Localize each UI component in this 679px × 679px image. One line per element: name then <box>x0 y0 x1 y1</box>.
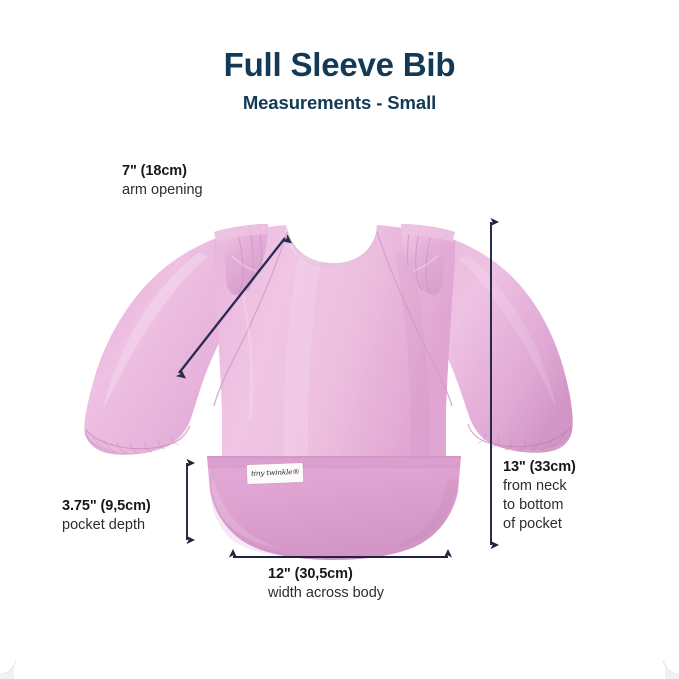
label-arm-opening-value: 7" (18cm) <box>122 162 203 181</box>
label-neck-to-pocket-line3: of pocket <box>503 515 576 534</box>
label-neck-to-pocket-line2: to bottom <box>503 496 576 515</box>
label-pocket-depth-description: pocket depth <box>62 516 151 535</box>
brand-label-tag: tiny twinkle® <box>247 463 304 484</box>
label-neck-to-pocket-line1: from neck <box>503 477 576 496</box>
label-pocket-depth: 3.75" (9,5cm) pocket depth <box>62 497 151 535</box>
brand-label-text: tiny twinkle® <box>251 467 300 477</box>
label-width-across-body-description: width across body <box>268 584 384 603</box>
measurement-diagram-page: Full Sleeve Bib Measurements - Small <box>0 0 679 679</box>
label-arm-opening: 7" (18cm) arm opening <box>122 162 203 200</box>
page-bottom-curve <box>0 645 679 679</box>
label-width-across-body: 12" (30,5cm) width across body <box>268 565 384 603</box>
bib-pocket <box>207 456 461 560</box>
label-neck-to-pocket: 13" (33cm) from neck to bottom of pocket <box>503 458 576 535</box>
label-pocket-depth-value: 3.75" (9,5cm) <box>62 497 151 516</box>
label-arm-opening-description: arm opening <box>122 181 203 200</box>
label-neck-to-pocket-value: 13" (33cm) <box>503 458 576 477</box>
label-width-across-body-value: 12" (30,5cm) <box>268 565 384 584</box>
